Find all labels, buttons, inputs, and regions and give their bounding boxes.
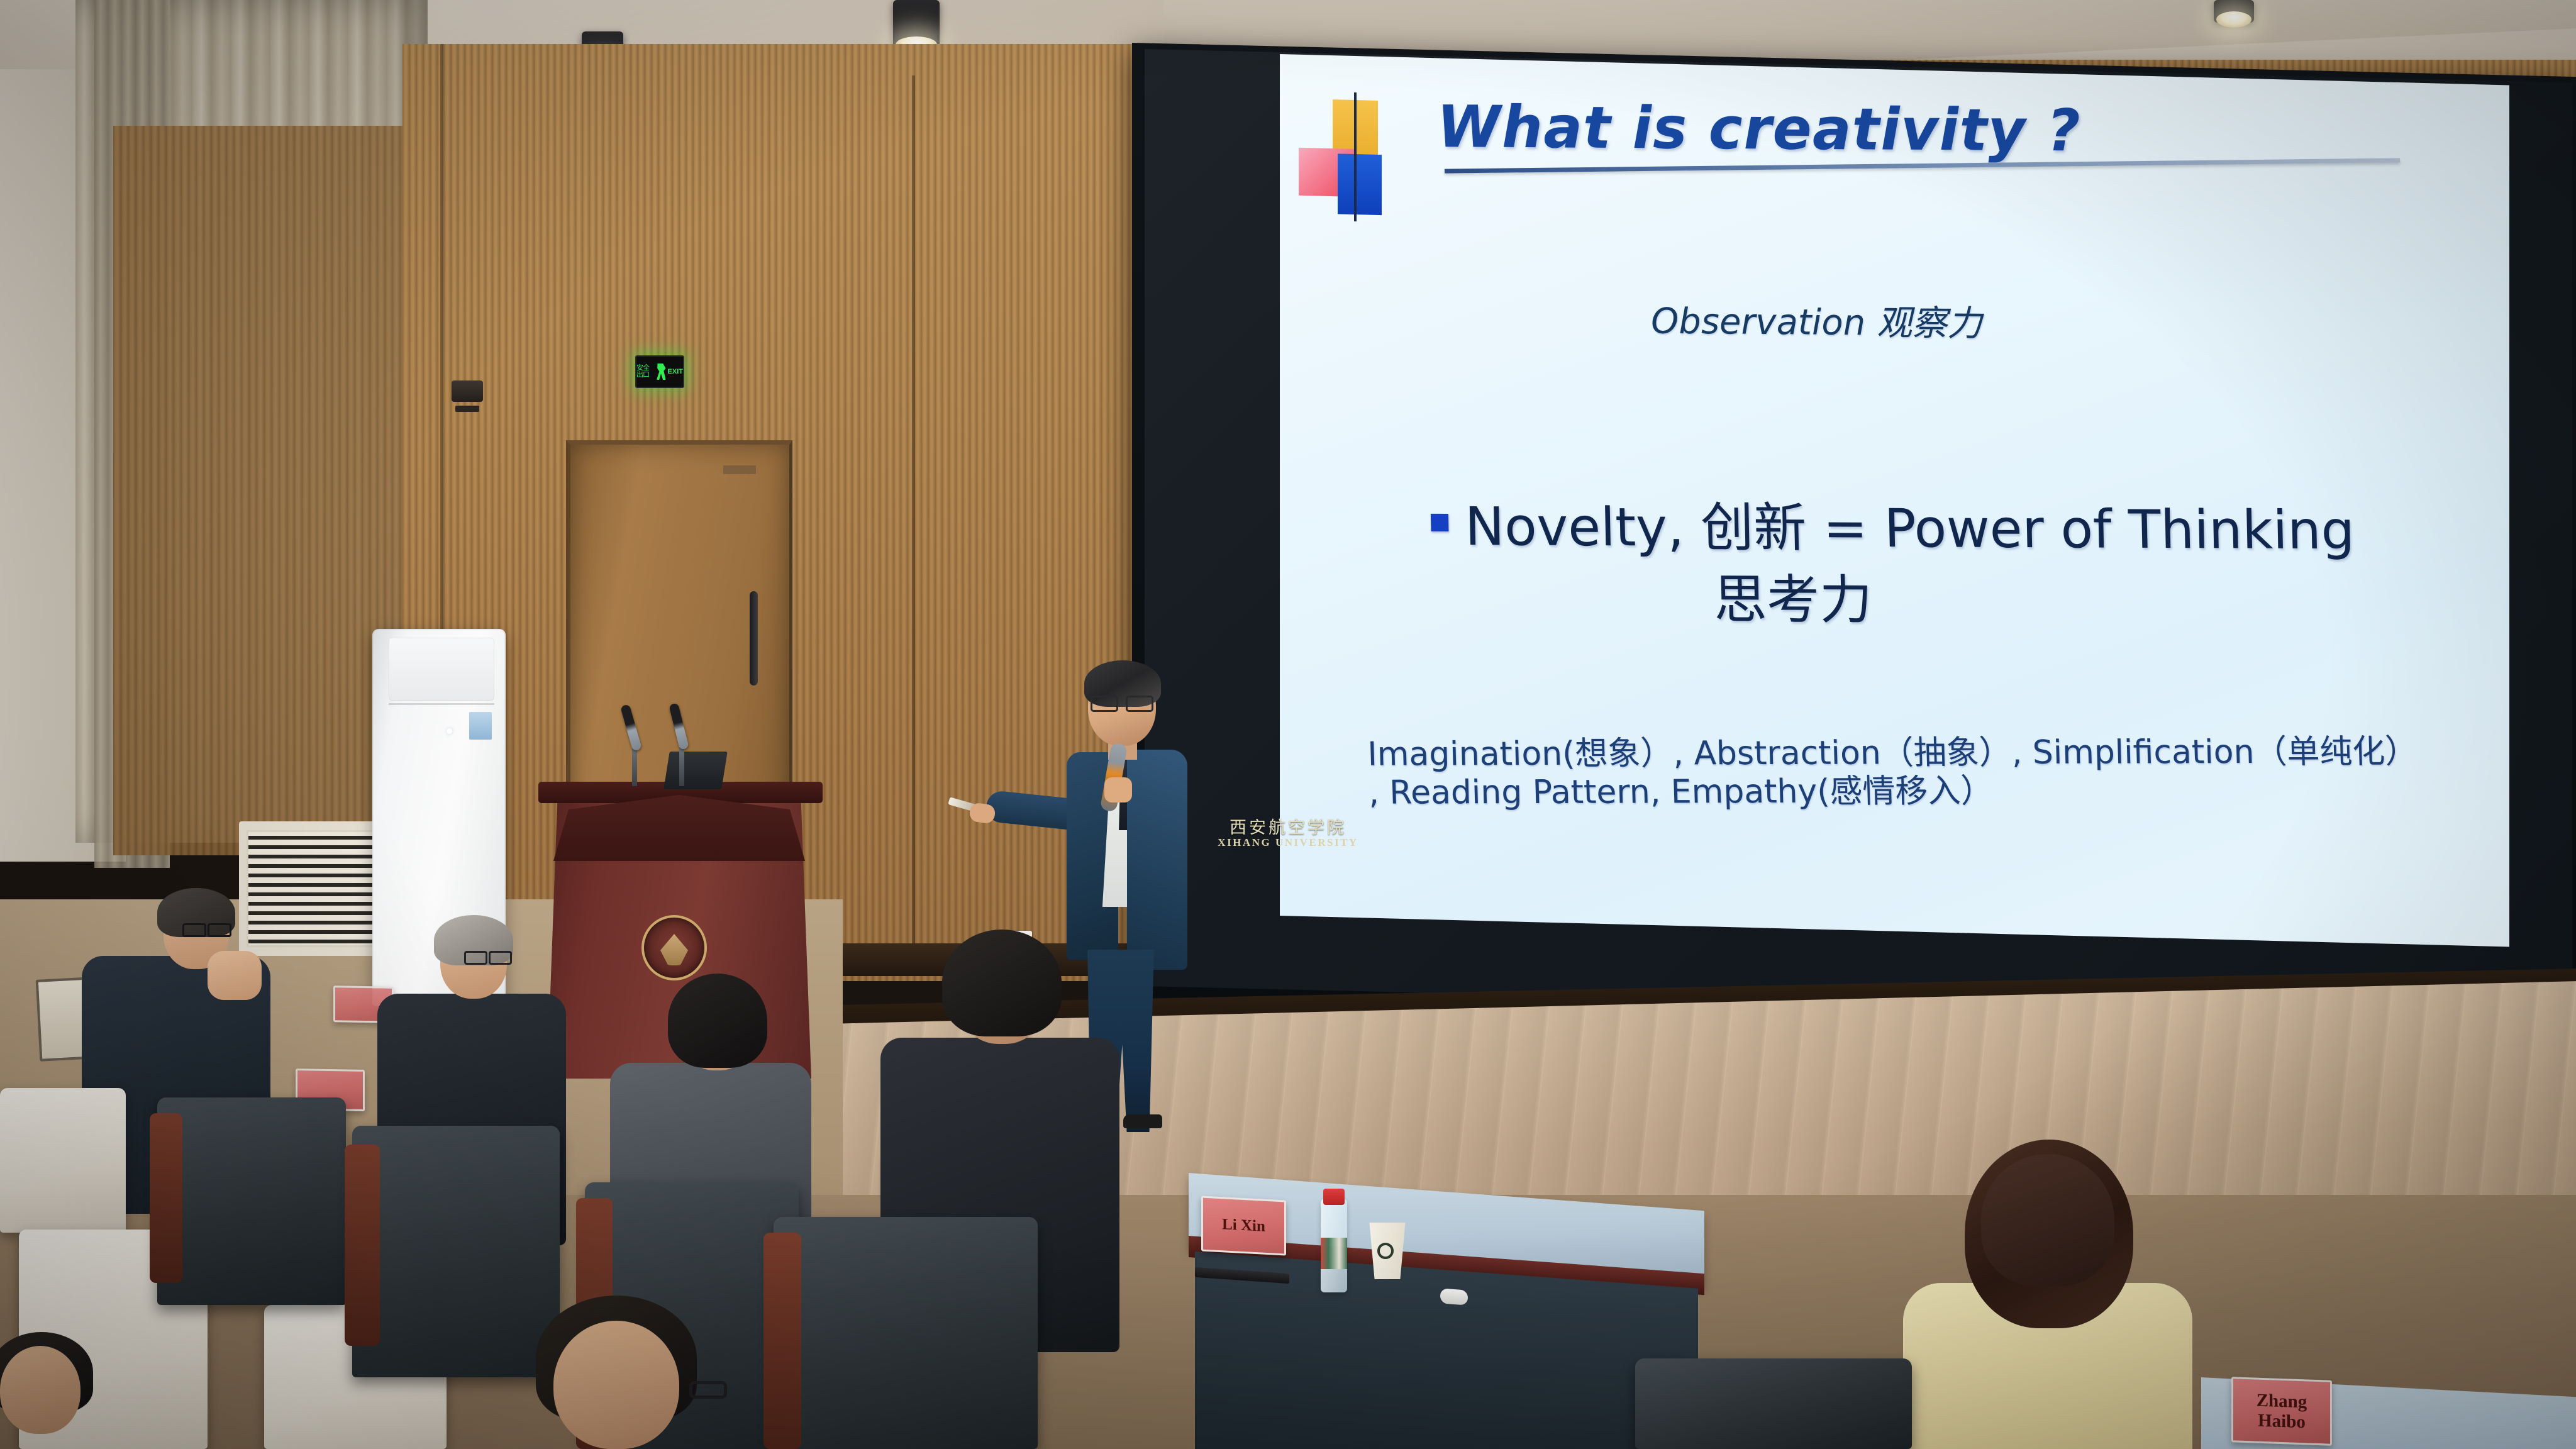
slide-footer-line-1: Imagination(想象）, Abstraction（抽象）, Simpli… <box>1367 733 2500 774</box>
ceiling-light-4 <box>2214 0 2254 23</box>
slide-subtitle: Observation 观察力 <box>1650 293 1982 347</box>
slide-bullet-main-line2: 思考力 <box>1713 557 1873 634</box>
chair-row-5[interactable] <box>1635 1358 1912 1449</box>
lecture-hall-scene: 安全出口 EXIT What is creativity ? Observati… <box>0 0 2576 1449</box>
chair-row-2[interactable] <box>352 1126 560 1377</box>
air-conditioner-seam <box>389 703 494 705</box>
slide-footer-line-2: , Reading Pattern, Empathy(感情移入） <box>1368 771 2501 813</box>
university-emblem-icon <box>641 915 707 980</box>
computer-mouse[interactable] <box>1440 1288 1468 1305</box>
chair-arm-1 <box>150 1113 182 1283</box>
audience-5-head <box>553 1321 679 1449</box>
audience-1-eyeglasses-icon <box>182 923 231 933</box>
exit-sign-cn-label: 安全出口 <box>636 365 655 379</box>
audience-2-eyeglasses-icon <box>464 951 512 961</box>
audience-1-hand <box>208 951 262 1000</box>
lectern-university-name-en: XIHANG UNIVERSITY <box>0 836 2576 849</box>
slide-logo <box>1299 99 1418 209</box>
air-conditioner-led-icon <box>447 728 452 734</box>
lectern-university-name-cn: 西安航空学院 <box>0 814 2576 838</box>
chair-white-1[interactable] <box>0 1088 126 1233</box>
running-man-icon <box>657 364 666 380</box>
chair-arm-2 <box>345 1145 380 1346</box>
logo-blue-block <box>1338 153 1382 215</box>
audience-3-hair <box>668 974 767 1068</box>
audience-6-head <box>1981 1154 2114 1286</box>
presenter-shoe-right <box>1123 1114 1162 1128</box>
coffee-cup-logo-icon <box>1377 1243 1394 1259</box>
ceiling-light-3 <box>893 0 940 48</box>
door-handle[interactable] <box>750 591 758 686</box>
nameplate-line-1: Zhang <box>2257 1390 2307 1412</box>
air-conditioner-label <box>469 712 492 740</box>
emergency-exit-sign: 安全出口 EXIT <box>635 355 684 388</box>
slide-footer-text: Imagination(想象）, Abstraction（抽象）, Simpli… <box>1367 733 2501 812</box>
nameplate-zhang-haibo: Zhang Haibo <box>2231 1377 2332 1446</box>
audience-5-eyeglasses-icon <box>689 1381 727 1399</box>
logo-vertical-line <box>1354 92 1357 221</box>
nameplate-li-xin: Li Xin <box>1201 1196 1286 1255</box>
eyeglasses-icon <box>1091 696 1153 708</box>
air-conditioner-top-panel <box>389 638 494 701</box>
audience-4-hair <box>942 930 1062 1036</box>
bullet-square-icon <box>1431 513 1449 531</box>
audience-0-head <box>0 1346 80 1434</box>
presentation-slide: What is creativity ? Observation 观察力 Nov… <box>1280 54 2509 947</box>
nameplate-line-2: Haibo <box>2258 1411 2306 1433</box>
nameplate-line-1: Li Xin <box>1222 1216 1265 1236</box>
presenter-mic-hand <box>1104 777 1132 802</box>
slide-title: What is creativity ? <box>1436 93 2082 164</box>
exit-sign-en-label: EXIT <box>668 369 683 375</box>
slide-bullet-main: Novelty, 创新 = Power of Thinking <box>1464 484 2355 564</box>
slide-bullet-row: Novelty, 创新 = Power of Thinking <box>1430 484 2501 565</box>
wall-mounted-speaker <box>452 380 483 402</box>
presenter-jacket-right <box>1127 750 1187 970</box>
chair-row-1[interactable] <box>157 1097 346 1305</box>
chair-row-4[interactable] <box>774 1217 1038 1449</box>
water-bottle-cap <box>1323 1189 1345 1205</box>
lectern-laptop[interactable] <box>663 752 728 789</box>
far-wood-wall <box>113 126 409 855</box>
chair-arm-4 <box>763 1233 801 1449</box>
water-bottle-label <box>1321 1238 1347 1269</box>
door-plate <box>723 465 756 474</box>
